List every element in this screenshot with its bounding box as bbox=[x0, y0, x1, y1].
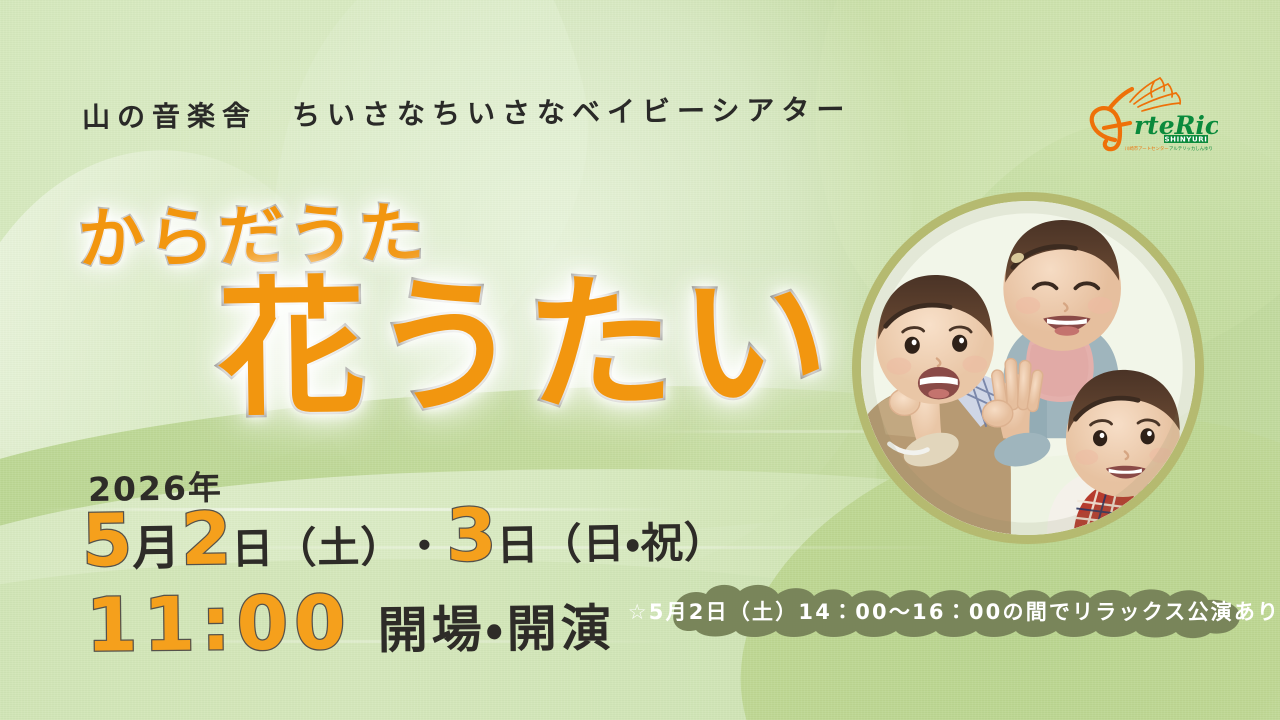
svg-text:川崎市アートセンター: 川崎市アートセンター bbox=[1125, 145, 1169, 152]
event-date-line: 5 月 2 日（土） ・ 3 日（日・祝） bbox=[82, 496, 728, 577]
event-time-label: 開場・開演 bbox=[377, 603, 615, 655]
date-month-label: 月 bbox=[132, 524, 182, 573]
svg-text:アルテリッカしんゆり: アルテリッカしんゆり bbox=[1169, 146, 1213, 152]
svg-text:SHINYURI: SHINYURI bbox=[1165, 136, 1208, 144]
date-day2-number: 3 bbox=[446, 499, 497, 572]
date-month-number: 5 bbox=[82, 504, 133, 577]
poster-root: 山の音楽舎 ちいさなちいさなベイビーシアター rteRicca bbox=[0, 0, 1280, 720]
date-day1-number: 2 bbox=[181, 502, 232, 575]
arte-ricca-logo[interactable]: rteRicca SHINYURI 川崎市アートセンター アルテリッカしんゆり bbox=[1068, 62, 1218, 154]
date-separator: ・ bbox=[403, 525, 447, 568]
relax-performance-note-badge: ☆5月2日（土）14：00〜16：00の間でリラックス公演あり bbox=[648, 582, 1256, 640]
date-day2-label: 日（日・祝） bbox=[496, 522, 727, 567]
main-title-hanautai: 花うたい bbox=[217, 268, 835, 425]
event-time-line: 11:00 開場・開演 bbox=[86, 583, 615, 663]
event-series-heading: 山の音楽舎 ちいさなちいさなベイビーシアター bbox=[82, 88, 852, 136]
babies-photo bbox=[861, 201, 1195, 535]
relax-performance-note-text: ☆5月2日（土）14：00〜16：00の間でリラックス公演あり bbox=[648, 582, 1256, 640]
date-day1-label: 日（土） bbox=[231, 526, 404, 570]
babies-photo-circle bbox=[852, 192, 1204, 544]
event-time-value: 11:00 bbox=[86, 586, 352, 663]
